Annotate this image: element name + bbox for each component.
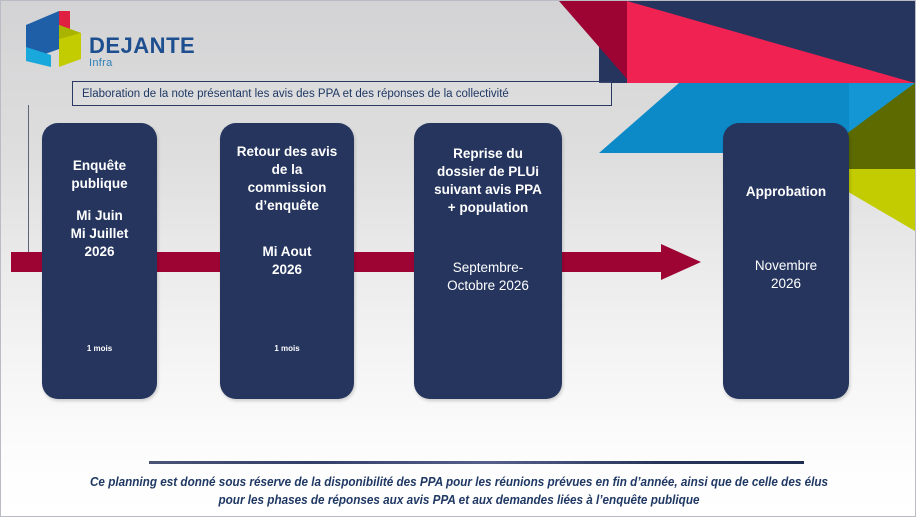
logo-company-name: DEJANTE	[89, 35, 195, 57]
card-date-line: Novembre	[723, 257, 849, 275]
card-title-line: commission	[220, 179, 354, 197]
logo-wordmark: DEJANTE Infra	[89, 35, 195, 69]
footer-disclaimer-line-2: pour les phases de réponses aux avis PPA…	[42, 491, 875, 509]
card-date-line: 2026	[723, 275, 849, 293]
card-date-line: 2026	[42, 243, 157, 261]
card-title-line: suivant avis PPA	[414, 181, 562, 199]
card-date-line: Octobre 2026	[414, 277, 562, 295]
spacer	[723, 215, 849, 229]
spacer	[723, 243, 849, 257]
card-date-line: 2026	[220, 261, 354, 279]
slide-canvas: DEJANTE Infra Elaboration de la note pré…	[0, 0, 916, 517]
logo-tagline: Infra	[89, 58, 195, 69]
note-callout-text: Elaboration de la note présentant les av…	[73, 88, 509, 100]
footer-disclaimer: Ce planning est donné sous réserve de la…	[42, 473, 875, 510]
spacer	[723, 229, 849, 243]
footer-disclaimer-line-1: Ce planning est donné sous réserve de la…	[42, 473, 875, 491]
decor-blue-right	[849, 83, 915, 153]
card-title-line: Retour des avis	[220, 143, 354, 161]
spacer	[220, 215, 354, 229]
card-title-line: dossier de PLUi	[414, 163, 562, 181]
spacer	[220, 229, 354, 243]
card-date-line: Mi Juillet	[42, 225, 157, 243]
spacer	[414, 231, 562, 245]
card-duration-badge: 1 mois	[42, 345, 157, 353]
card-date-line: Mi Aout	[220, 243, 354, 261]
card-title-line: Reprise du	[414, 145, 562, 163]
card-body: Approbation Novembre 2026	[723, 123, 849, 399]
card-title-line: Enquête	[42, 157, 157, 175]
card-body: Retour des avis de la commission d’enquê…	[220, 123, 354, 345]
footer-divider-line	[149, 461, 804, 464]
decor-crimson-triangle	[559, 1, 627, 79]
spacer	[723, 201, 849, 215]
spacer	[414, 217, 562, 231]
timeline-card-enquete-publique[interactable]: Enquête publique Mi Juin Mi Juillet 2026…	[42, 123, 157, 399]
decor-navy-band	[599, 1, 915, 83]
spacer	[42, 193, 157, 207]
card-date-line: Septembre-	[414, 259, 562, 277]
card-title-line: Approbation	[723, 183, 849, 201]
card-title-line: + population	[414, 199, 562, 217]
leader-line	[28, 105, 29, 257]
card-duration-badge: 1 mois	[220, 345, 354, 353]
decor-pink-triangle	[627, 1, 915, 83]
company-logo: DEJANTE Infra	[23, 9, 193, 71]
card-date-line: Mi Juin	[42, 207, 157, 225]
card-body: Enquête publique Mi Juin Mi Juillet 2026	[42, 123, 157, 345]
note-callout-box: Elaboration de la note présentant les av…	[72, 81, 612, 106]
card-title-line: publique	[42, 175, 157, 193]
timeline-card-reprise-dossier-plui[interactable]: Reprise du dossier de PLUi suivant avis …	[414, 123, 562, 399]
card-title-line: d’enquête	[220, 197, 354, 215]
timeline-card-approbation[interactable]: Approbation Novembre 2026	[723, 123, 849, 399]
spacer	[414, 245, 562, 259]
timeline-card-retour-avis-commission[interactable]: Retour des avis de la commission d’enquê…	[220, 123, 354, 399]
card-title-line: de la	[220, 161, 354, 179]
logo-mark-icon	[23, 9, 89, 71]
card-body: Reprise du dossier de PLUi suivant avis …	[414, 123, 562, 399]
